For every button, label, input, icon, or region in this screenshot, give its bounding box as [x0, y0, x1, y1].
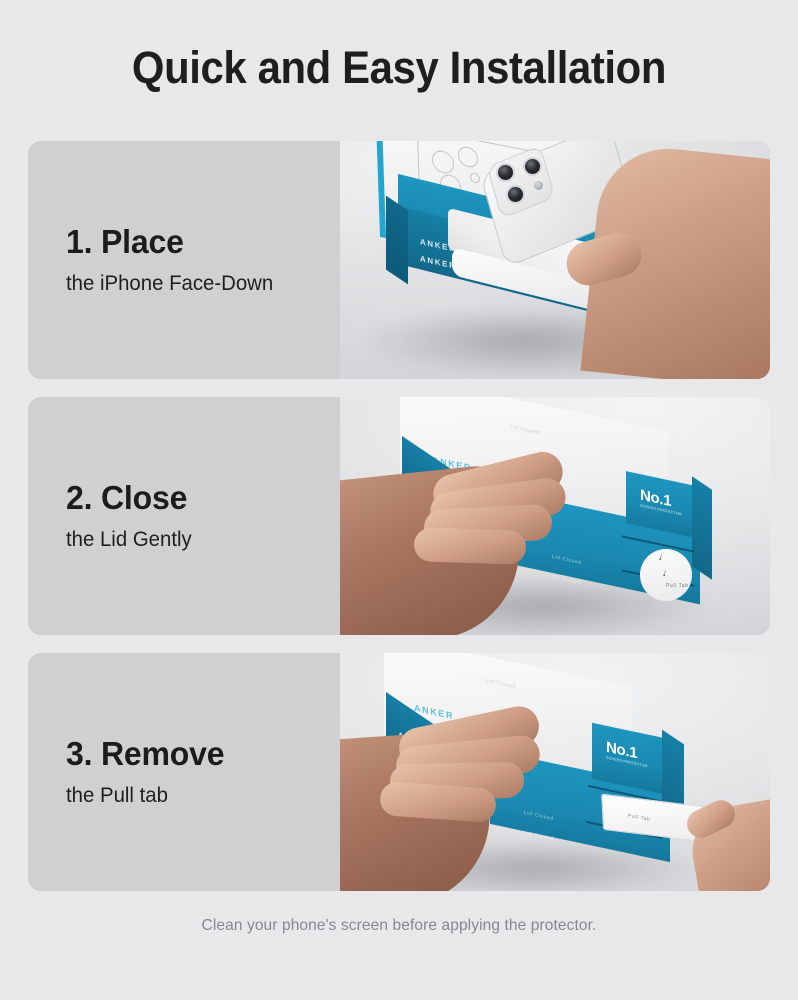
step-1-text-block: 1. Place the iPhone Face-Down [28, 141, 340, 379]
step-3-title: 3. Remove [66, 736, 332, 772]
finger-pinky-2 [413, 527, 526, 565]
page-title: Quick and Easy Installation [28, 0, 770, 91]
step-panel-1: 1. Place the iPhone Face-Down [28, 141, 770, 379]
iphone-lens-bottom [506, 185, 525, 204]
pull-tab-label-2: Pull Tab [666, 583, 689, 589]
iphone-lens-top-right [523, 157, 542, 176]
step-panel-3: 3. Remove the Pull tab ANKER Lid Closed … [28, 653, 770, 891]
step-1-photo: ANKER ANKER Lid Closed Lid Closed ↓ Pull… [340, 141, 770, 379]
footer-note: Clean your phone's screen before applyin… [12, 917, 786, 935]
step-panel-2: 2. Close the Lid Gently ANKER Lid Closed… [28, 397, 770, 635]
installation-steps-list: 1. Place the iPhone Face-Down [28, 141, 770, 909]
step-3-text-block: 3. Remove the Pull tab [28, 653, 340, 891]
box-right-face-2 [692, 476, 712, 579]
step-3-subtitle: the Pull tab [66, 784, 332, 808]
iphone-flash-1 [534, 181, 543, 190]
step-2-photo: ANKER Lid Closed ANKER No.1 SCREEN PROTE… [340, 397, 770, 635]
step-2-text-block: 2. Close the Lid Gently [28, 397, 340, 635]
iphone-lens-top-left [496, 163, 515, 182]
step-1-title: 1. Place [66, 224, 332, 260]
box-tray-left-1 [386, 196, 408, 285]
step-2-title: 2. Close [66, 480, 332, 516]
step-1-subtitle: the iPhone Face-Down [66, 272, 332, 296]
step-3-photo: ANKER Lid Closed ANKER No.1 SCREEN PROTE… [340, 653, 770, 891]
step-2-subtitle: the Lid Gently [66, 528, 332, 552]
